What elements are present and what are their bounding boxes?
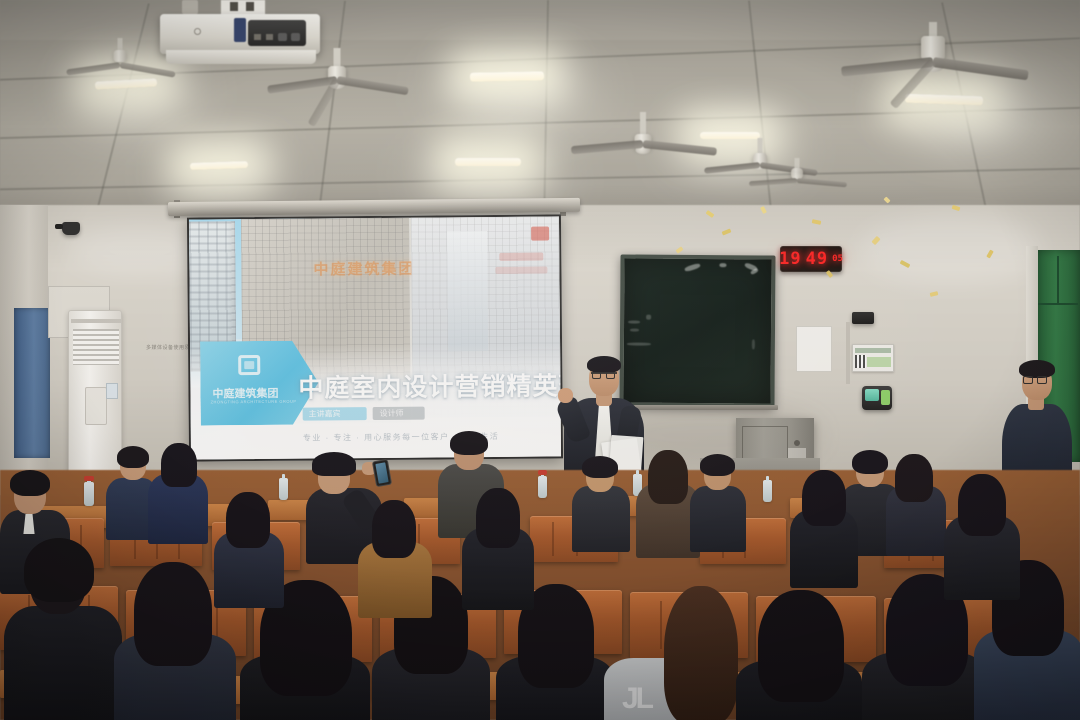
projection-screen[interactable]: 中庭建筑集团 中庭建筑集团 ZHONGTING ARCHITECTURE GRO… [187,214,563,461]
slide-main-title: 中庭室内设计营销精英班 [298,366,563,404]
slide-red-sign [499,253,543,261]
presenter-hair [587,356,621,373]
smartphone[interactable] [372,459,392,487]
audience-member [356,498,434,608]
presenter-glasses-lens [592,372,601,379]
clock-seconds: 05 [832,254,843,264]
clock-minutes: 49 [806,249,828,269]
audience-member [460,486,536,602]
audience-member [942,472,1022,592]
wall-notice-paper [796,326,832,372]
slide-chip-primary-label: 主讲嘉宾 [309,408,341,419]
wall-speaker [852,312,874,324]
audience-member-foreground: JL [604,586,740,720]
standing-attendee-glasses-lens [1037,376,1047,384]
slide-red-sign [531,226,549,240]
surveillance-camera [62,222,80,235]
ceiling-light [470,71,544,81]
audience-member [788,470,860,580]
ceiling-projector [160,8,320,70]
slide-red-sign [495,266,547,273]
lecture-hall-photo: 多媒体设备使用须知 中庭建筑集团 [0,0,1080,720]
presenter-hand [558,388,573,403]
audience-member-foreground [4,534,124,720]
ceiling-fan [568,112,718,168]
audience-member [570,458,632,544]
wall-conduit [846,322,850,384]
audience-member [148,444,210,532]
ceiling [0,0,1080,230]
standing-attendee-glasses-lens [1023,376,1033,384]
audience-member-foreground [736,590,866,720]
left-door-panel[interactable] [14,308,50,458]
audience-member [688,456,748,544]
safety-notice-sign [852,344,894,372]
water-bottle [538,476,547,498]
water-bottle [763,480,772,502]
ceiling-fan [742,158,852,198]
slide-logo-subtext: ZHONGTING ARCHITECTURE GROUP [211,399,297,405]
slide-chip-secondary-label: 设计师 [380,408,404,419]
audience-member [884,454,948,546]
slide-logo-mark [238,355,260,375]
access-control-reader[interactable] [862,386,892,410]
digital-wall-clock: 19 49 05 [780,246,842,272]
clock-hours: 19 [779,249,801,269]
slide-facade-text: 中庭建筑集团 [313,258,415,280]
audience-hat [312,452,356,476]
water-bottle [84,482,94,506]
presenter-glasses-lens [606,372,615,379]
ceiling-light [455,158,521,166]
audience-member [212,490,286,598]
audience-long-hair [664,586,738,720]
ceiling-fan [838,22,1028,92]
